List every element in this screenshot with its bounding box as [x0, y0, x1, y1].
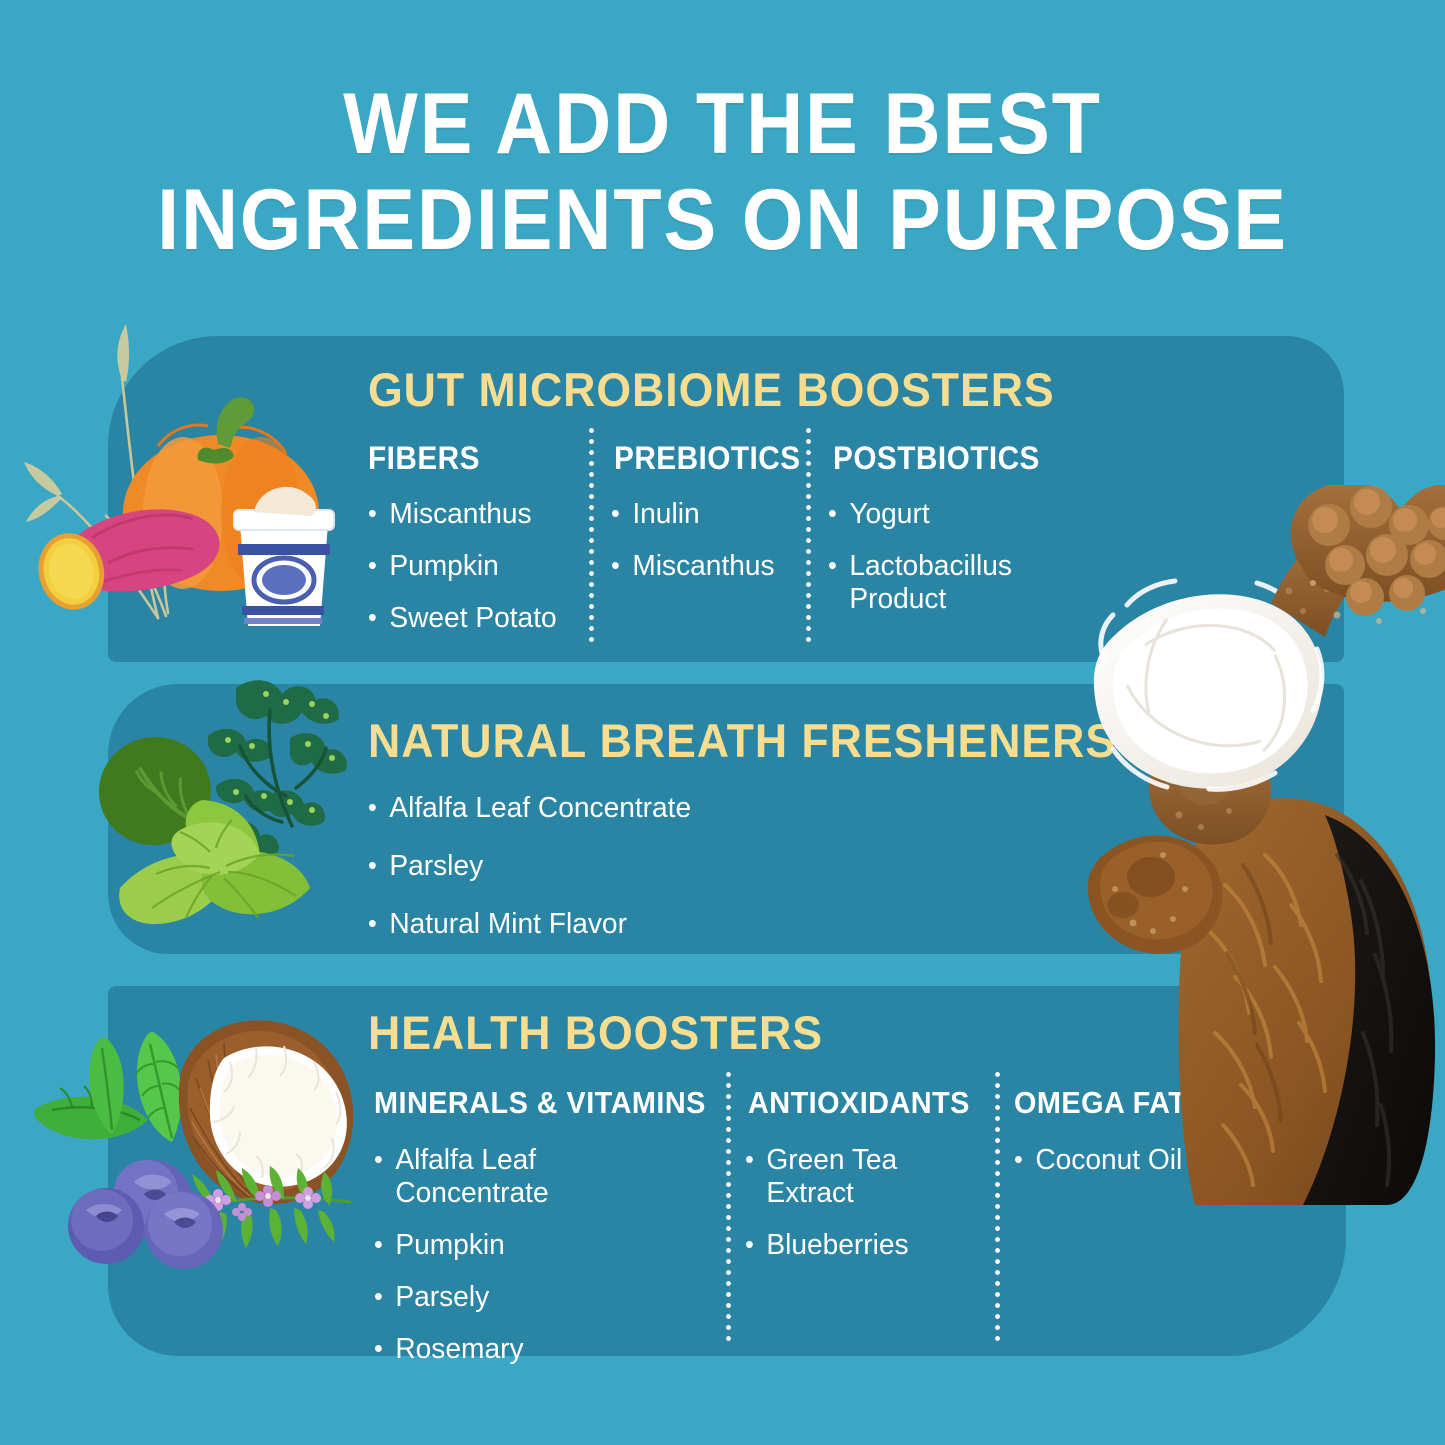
title-line-1: WE ADD THE BEST: [58, 76, 1387, 172]
column-title-omega-fatty-acids: OMEGA FATTY ACIDS: [1014, 1086, 1323, 1120]
list-item: Miscanthus: [611, 550, 795, 583]
column-title-prebiotics: PREBIOTICS: [614, 441, 801, 475]
column-divider: [589, 428, 594, 642]
column-title-postbiotics: POSTBIOTICS: [833, 441, 1040, 475]
list-postbiotics: Yogurt Lactobacillus Product: [828, 498, 1043, 635]
list-item: Pumpkin: [374, 1229, 694, 1262]
list-item: Coconut Oil: [1014, 1144, 1237, 1177]
list-item: Yogurt: [828, 498, 1037, 531]
list-item: Blueberries: [745, 1229, 939, 1262]
title-line-2: INGREDIENTS ON PURPOSE: [58, 172, 1387, 268]
column-title-antioxidants: ANTIOXIDANTS: [748, 1086, 970, 1120]
column-title-fibers: FIBERS: [368, 441, 480, 475]
list-item: Rosemary: [374, 1333, 694, 1366]
list-item: Parsely: [374, 1281, 694, 1314]
column-divider: [995, 1072, 1000, 1344]
column-title-minerals-and-vitamins: MINERALS & VITAMINS: [374, 1086, 706, 1120]
list-item: Alfalfa Leaf Concentrate: [368, 792, 824, 825]
list-item: Parsley: [368, 850, 824, 883]
list-item: Inulin: [611, 498, 795, 531]
section-heading-gut-microbiome-boosters: GUT MICROBIOME BOOSTERS: [368, 365, 1055, 415]
list-item: Green Tea Extract: [745, 1144, 939, 1210]
list-omega-fatty-acids: Coconut Oil: [1014, 1144, 1244, 1196]
list-antioxidants: Green Tea Extract Blueberries: [745, 1144, 945, 1281]
list-breath-fresheners: Alfalfa Leaf Concentrate Parsley Natural…: [368, 792, 838, 960]
list-item: Alfalfa Leaf Concentrate: [374, 1144, 694, 1210]
list-minerals-and-vitamins: Alfalfa Leaf Concentrate Pumpkin Parsely…: [374, 1144, 704, 1385]
section-heading-health-boosters: HEALTH BOOSTERS: [368, 1008, 823, 1058]
list-item: Natural Mint Flavor: [368, 908, 824, 941]
list-item: Lactobacillus Product: [828, 550, 1037, 616]
list-prebiotics: Inulin Miscanthus: [611, 498, 801, 602]
list-fibers: Miscanthus Pumpkin Sweet Potato: [368, 498, 583, 654]
section-heading-natural-breath-fresheners: NATURAL BREATH FRESHENERS: [368, 716, 1116, 766]
list-item: Miscanthus: [368, 498, 577, 531]
list-item: Pumpkin: [368, 550, 577, 583]
column-divider: [726, 1072, 731, 1344]
column-divider: [806, 428, 811, 642]
list-item: Sweet Potato: [368, 602, 577, 635]
page-title: WE ADD THE BEST INGREDIENTS ON PURPOSE: [0, 76, 1445, 268]
